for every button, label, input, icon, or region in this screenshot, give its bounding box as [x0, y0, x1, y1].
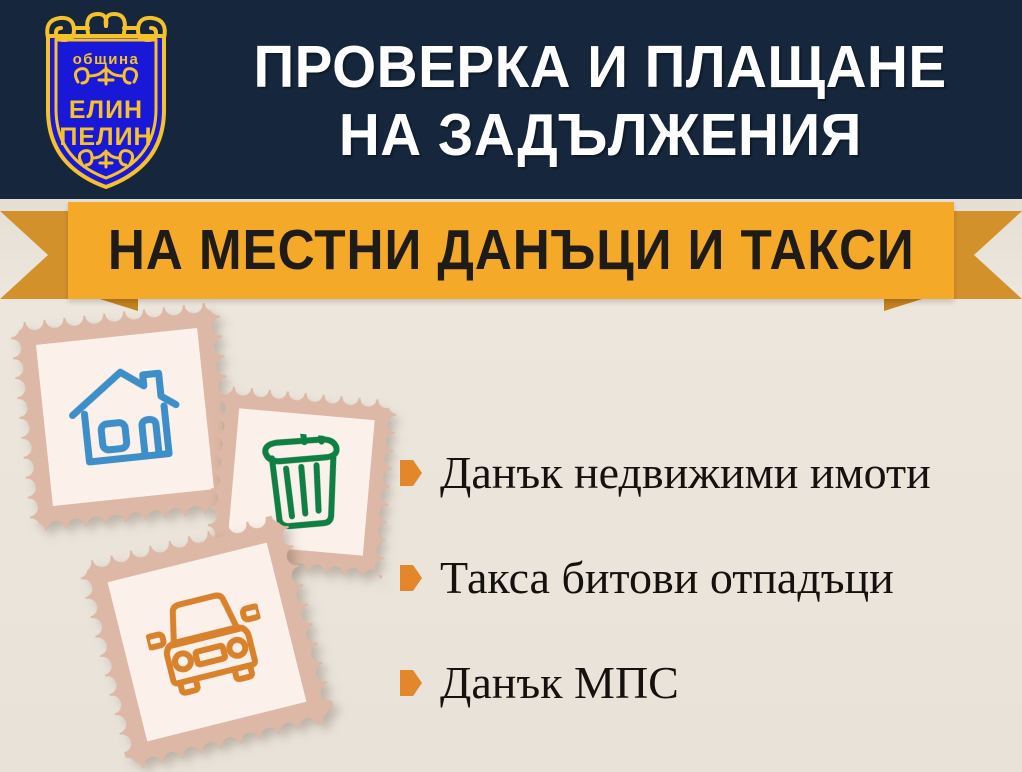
list-item-label: Данък недвижими имоти — [440, 447, 931, 499]
bullet-arrow-icon — [400, 565, 422, 591]
list-item[interactable]: Данък МПС — [400, 630, 1015, 735]
header-title: ПРОВЕРКА И ПЛАЩАНЕ НА ЗАДЪЛЖЕНИЯ — [190, 16, 1010, 186]
list-item-label: Данък МПС — [440, 657, 679, 709]
crest-name-line1: ЕЛИН — [69, 96, 143, 124]
header-title-line-1: ПРОВЕРКА И ПЛАЩАНЕ — [253, 33, 946, 101]
bullet-arrow-icon — [400, 670, 422, 696]
ribbon-text: НА МЕСТНИ ДАНЪЦИ И ТАКСИ — [108, 222, 915, 279]
ribbon-main-panel: НА МЕСТНИ ДАНЪЦИ И ТАКСИ — [68, 202, 954, 299]
house-icon — [64, 360, 186, 473]
tax-type-list: Данък недвижими имоти Такса битови отпад… — [400, 420, 1015, 735]
header-title-line-2: НА ЗАДЪЛЖЕНИЯ — [339, 101, 862, 169]
stamp-card-house — [10, 302, 241, 533]
poster-canvas: община ЕЛИН ПЕЛИН ПРОВЕРКА И П — [0, 0, 1022, 772]
car-icon — [139, 580, 275, 703]
municipality-crest-logo: община ЕЛИН ПЕЛИН — [26, 6, 186, 191]
bullet-arrow-icon — [400, 460, 422, 486]
crest-municipality-word: община — [73, 51, 140, 68]
crest-name-line2: ПЕЛИН — [59, 123, 152, 151]
list-item[interactable]: Данък недвижими имоти — [400, 420, 1015, 525]
ribbon-banner: НА МЕСТНИ ДАНЪЦИ И ТАКСИ — [0, 199, 1022, 311]
house-icon-holder — [10, 302, 241, 533]
list-item-label: Такса битови отпадъци — [440, 552, 894, 604]
list-item[interactable]: Такса битови отпадъци — [400, 525, 1015, 630]
